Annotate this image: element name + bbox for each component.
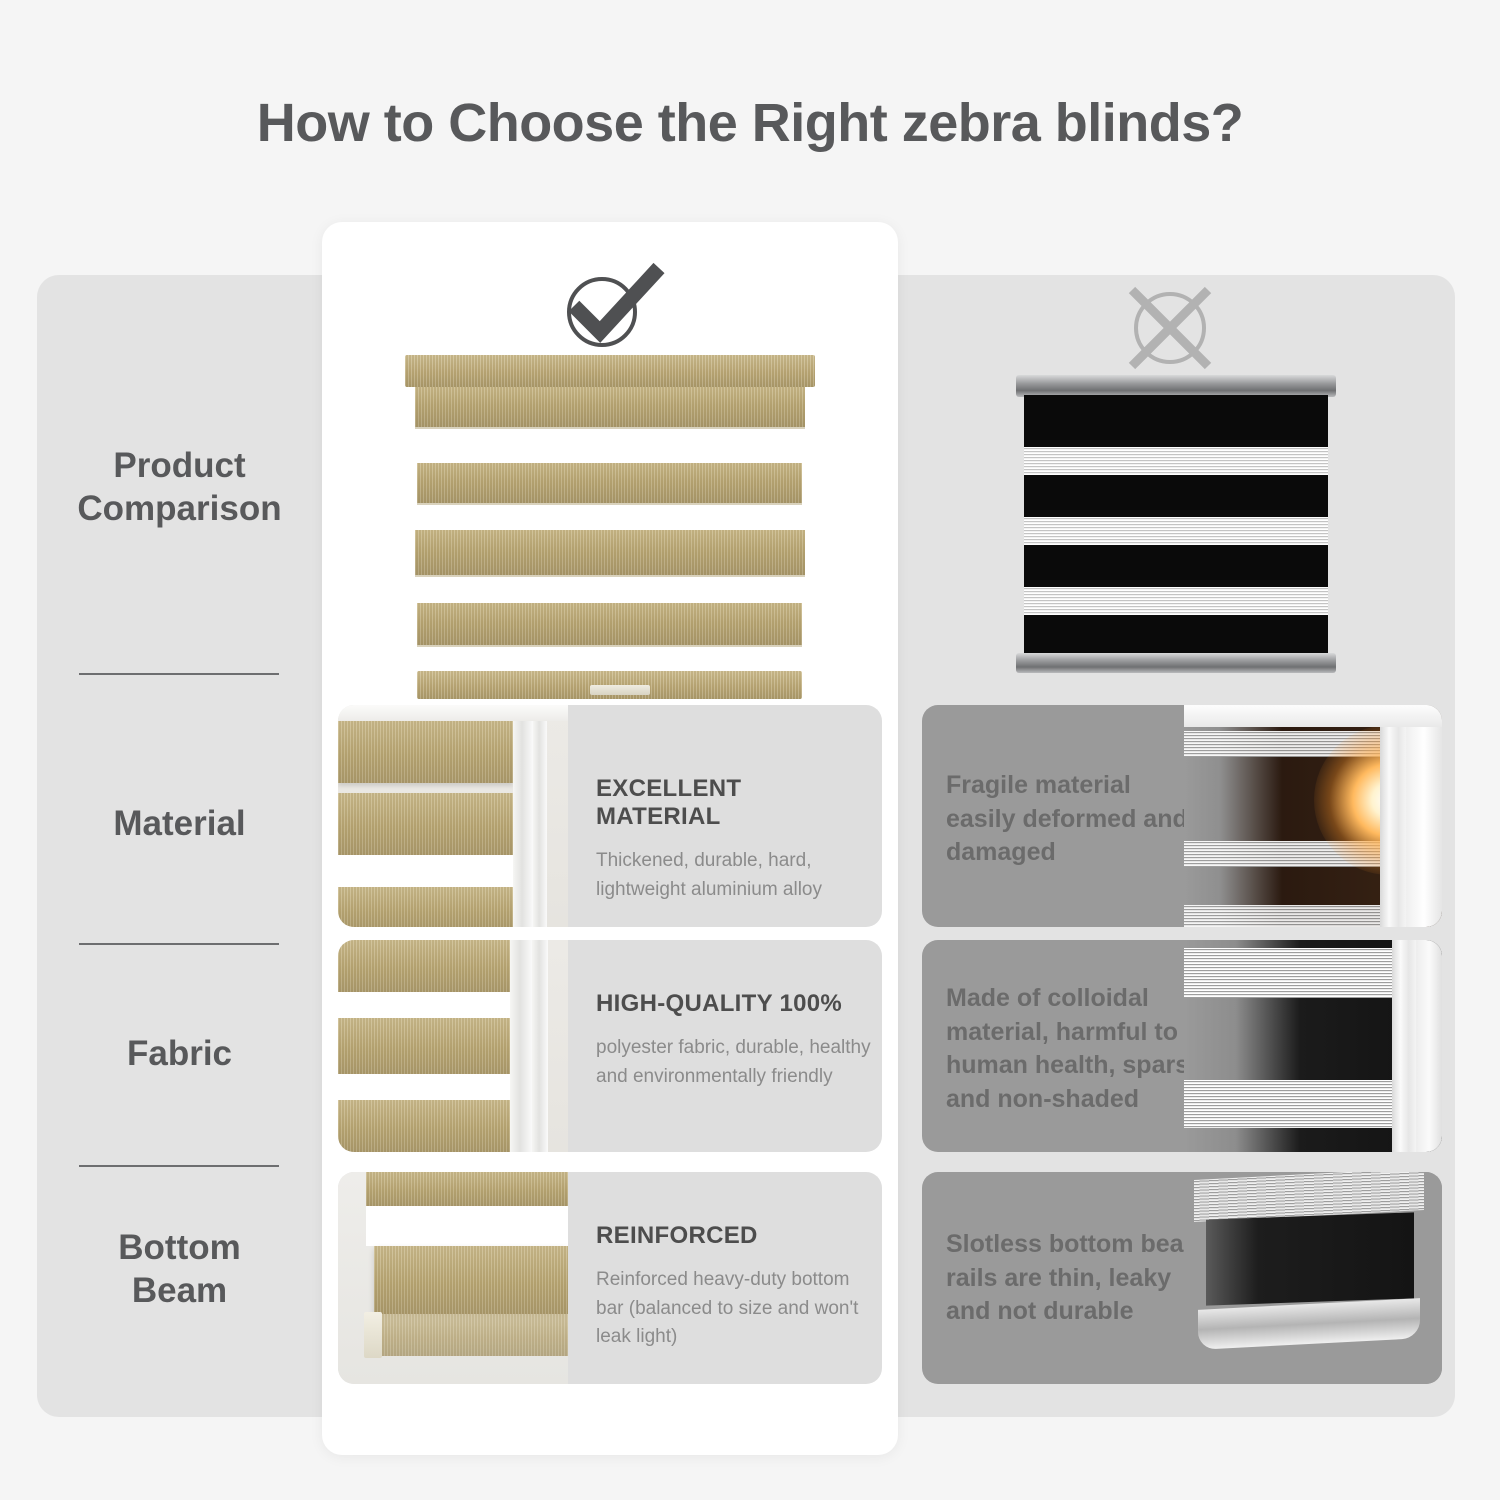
row-label-line1: Product <box>37 445 322 488</box>
bottom-beam-bad-text: Slotless bottom beam rails are thin, lea… <box>946 1228 1216 1329</box>
material-good-card: EXCELLENT MATERIAL Thickened, durable, h… <box>338 705 882 927</box>
row-label-line1: Material <box>37 803 322 846</box>
material-good-image <box>338 705 568 927</box>
row-divider-1 <box>79 673 279 675</box>
fabric-good-image <box>338 940 568 1152</box>
fabric-good-card: HIGH-QUALITY 100% polyester fabric, dura… <box>338 940 882 1152</box>
row-label-line1: Fabric <box>37 1033 322 1076</box>
black-zebra-blind-image <box>1016 375 1336 675</box>
row-divider-2 <box>79 943 279 945</box>
beige-zebra-blind-image <box>405 355 815 700</box>
fabric-good-body: polyester fabric, durable, healthy and e… <box>596 1034 876 1091</box>
fabric-bad-image <box>1184 940 1442 1152</box>
fabric-bad-card: Made of colloidal material, harmful to h… <box>922 940 1442 1152</box>
bottom-beam-good-text: REINFORCED Reinforced heavy-duty bottom … <box>596 1222 876 1352</box>
row-label-line2: Comparison <box>37 488 322 531</box>
row-label-line2: Beam <box>37 1270 322 1313</box>
fabric-good-text: HIGH-QUALITY 100% polyester fabric, dura… <box>596 990 876 1091</box>
row-label-product-comparison: Product Comparison <box>37 445 322 530</box>
check-circle-icon <box>556 262 666 352</box>
bottom-beam-good-card: REINFORCED Reinforced heavy-duty bottom … <box>338 1172 882 1384</box>
row-label-line1: Bottom <box>37 1227 322 1270</box>
row-label-fabric: Fabric <box>37 1033 322 1076</box>
bottom-beam-bad-card: Slotless bottom beam rails are thin, lea… <box>922 1172 1442 1384</box>
material-bad-text: Fragile material easily deformed and dam… <box>946 769 1206 870</box>
row-label-bottom-beam: Bottom Beam <box>37 1227 322 1312</box>
cross-circle-icon <box>1120 282 1220 374</box>
page-title: How to Choose the Right zebra blinds? <box>0 92 1500 154</box>
bottom-beam-bad-image <box>1184 1172 1442 1384</box>
bottom-beam-good-body: Reinforced heavy-duty bottom bar (balanc… <box>596 1266 876 1352</box>
row-divider-3 <box>79 1165 279 1167</box>
bottom-beam-good-image <box>338 1172 568 1384</box>
bottom-beam-good-title: REINFORCED <box>596 1222 876 1250</box>
row-label-column: Product Comparison Material Fabric Botto… <box>37 275 322 1417</box>
material-good-text: EXCELLENT MATERIAL Thickened, durable, h… <box>596 775 866 904</box>
row-label-material: Material <box>37 803 322 846</box>
material-bad-card: Fragile material easily deformed and dam… <box>922 705 1442 927</box>
fabric-bad-text: Made of colloidal material, harmful to h… <box>946 982 1216 1116</box>
fabric-good-title: HIGH-QUALITY 100% <box>596 990 876 1018</box>
material-good-title: EXCELLENT MATERIAL <box>596 775 866 831</box>
material-bad-image <box>1184 705 1442 927</box>
material-good-body: Thickened, durable, hard, lightweight al… <box>596 847 866 904</box>
